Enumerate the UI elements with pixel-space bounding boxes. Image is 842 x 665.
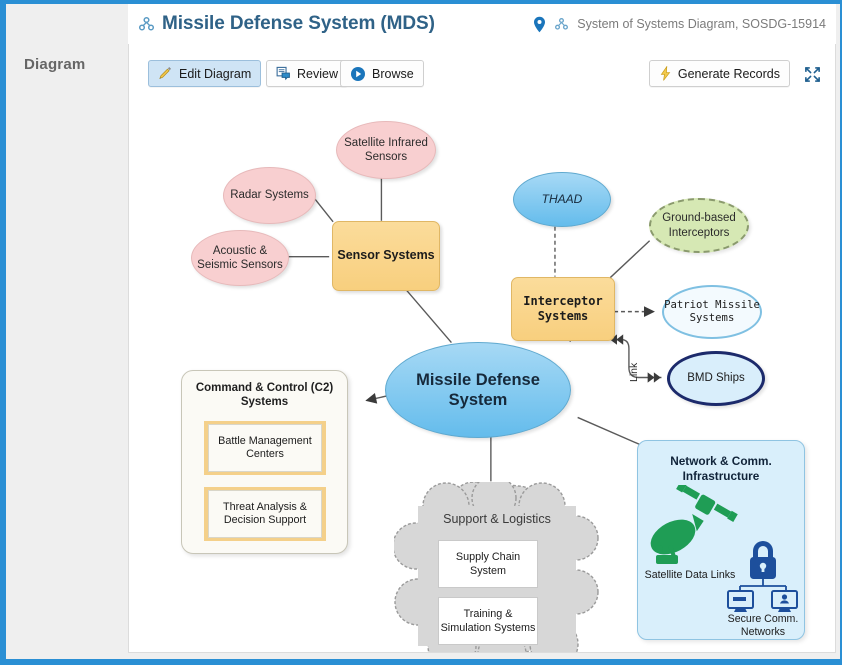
node-command-control-systems[interactable]: Command & Control (C2) Systems Battle Ma…: [181, 370, 348, 554]
diagram-stage: Link Radar Systems Satellite Infrared Se…: [129, 100, 835, 652]
generate-records-button[interactable]: Generate Records: [649, 60, 790, 87]
page-header: Missile Defense System (MDS): [128, 4, 836, 45]
node-patriot-missile-systems[interactable]: Patriot Missile Systems: [662, 285, 762, 339]
header-title-group: Missile Defense System (MDS): [138, 4, 435, 44]
node-threat-analysis-decision-support[interactable]: Threat Analysis & Decision Support: [204, 487, 326, 541]
diagram-toolbar: Edit Diagram Review: [129, 44, 835, 100]
edit-diagram-label: Edit Diagram: [179, 67, 251, 81]
cloud-title-label: Support & Logistics: [394, 512, 600, 526]
browse-label: Browse: [372, 67, 414, 81]
play-circle-icon: [350, 66, 366, 82]
node-ground-based-interceptors[interactable]: Ground-based Interceptors: [649, 198, 749, 253]
node-network-comm-infrastructure[interactable]: Network & Comm. Infrastructure: [637, 440, 805, 640]
edit-diagram-button[interactable]: Edit Diagram: [148, 60, 261, 87]
node-radar-systems[interactable]: Radar Systems: [223, 167, 316, 224]
node-battle-management-centers[interactable]: Battle Management Centers: [204, 421, 326, 475]
network-panel-title: Network & Comm. Infrastructure: [638, 454, 804, 485]
node-acoustic-seismic-sensors[interactable]: Acoustic & Seismic Sensors: [191, 230, 289, 286]
padlock-icon: [750, 541, 776, 579]
secure-comm-networks-label: Secure Comm. Networks: [716, 613, 810, 639]
map-pin-icon[interactable]: [533, 16, 546, 33]
review-comment-icon: [276, 66, 291, 81]
diagram-canvas: Edit Diagram Review: [128, 44, 836, 653]
page-title: Missile Defense System (MDS): [162, 13, 435, 35]
monitor-user-icon: [772, 591, 797, 612]
node-training-simulation-systems[interactable]: Training & Simulation Systems: [438, 597, 538, 645]
pencil-icon: [158, 66, 173, 81]
satellite-data-links-label: Satellite Data Links: [644, 569, 736, 582]
node-supply-chain-system[interactable]: Supply Chain System: [438, 540, 538, 588]
window-body: Diagram Missile Defense System (MDS): [6, 4, 840, 659]
browse-button[interactable]: Browse: [340, 60, 424, 87]
node-missile-defense-system[interactable]: Missile Defense System: [385, 342, 571, 438]
node-satellite-infrared-sensors[interactable]: Satellite Infrared Sensors: [336, 121, 436, 179]
secure-network-icon-group: [726, 533, 800, 613]
node-thaad[interactable]: THAAD: [513, 172, 611, 227]
diagram-meta-label: System of Systems Diagram, SOSDG-15914: [577, 17, 826, 31]
review-label: Review: [297, 67, 338, 81]
rail-label-diagram: Diagram: [24, 56, 85, 73]
node-interceptor-systems[interactable]: Interceptor Systems: [511, 277, 615, 341]
node-sensor-systems[interactable]: Sensor Systems: [332, 221, 440, 291]
c2-title-label: Command & Control (C2) Systems: [182, 381, 347, 410]
expand-arrows-icon[interactable]: [800, 62, 824, 86]
header-meta-group: System of Systems Diagram, SOSDG-15914: [533, 4, 826, 44]
application-window: Diagram Missile Defense System (MDS): [0, 0, 842, 665]
node-bmd-ships[interactable]: BMD Ships: [667, 351, 765, 406]
review-button[interactable]: Review: [266, 60, 348, 87]
left-rail: Diagram: [6, 4, 128, 653]
satellite-dish-icon: [646, 519, 708, 569]
sitemap-icon-small: [554, 17, 569, 32]
monitor-terminal-icon: [728, 591, 753, 612]
sitemap-icon: [138, 16, 155, 33]
lightning-bolt-icon: [659, 66, 672, 81]
node-support-logistics[interactable]: Support & Logistics Supply Chain System …: [394, 482, 600, 653]
generate-records-label: Generate Records: [678, 67, 780, 81]
edge-label-link: Link: [628, 363, 640, 382]
